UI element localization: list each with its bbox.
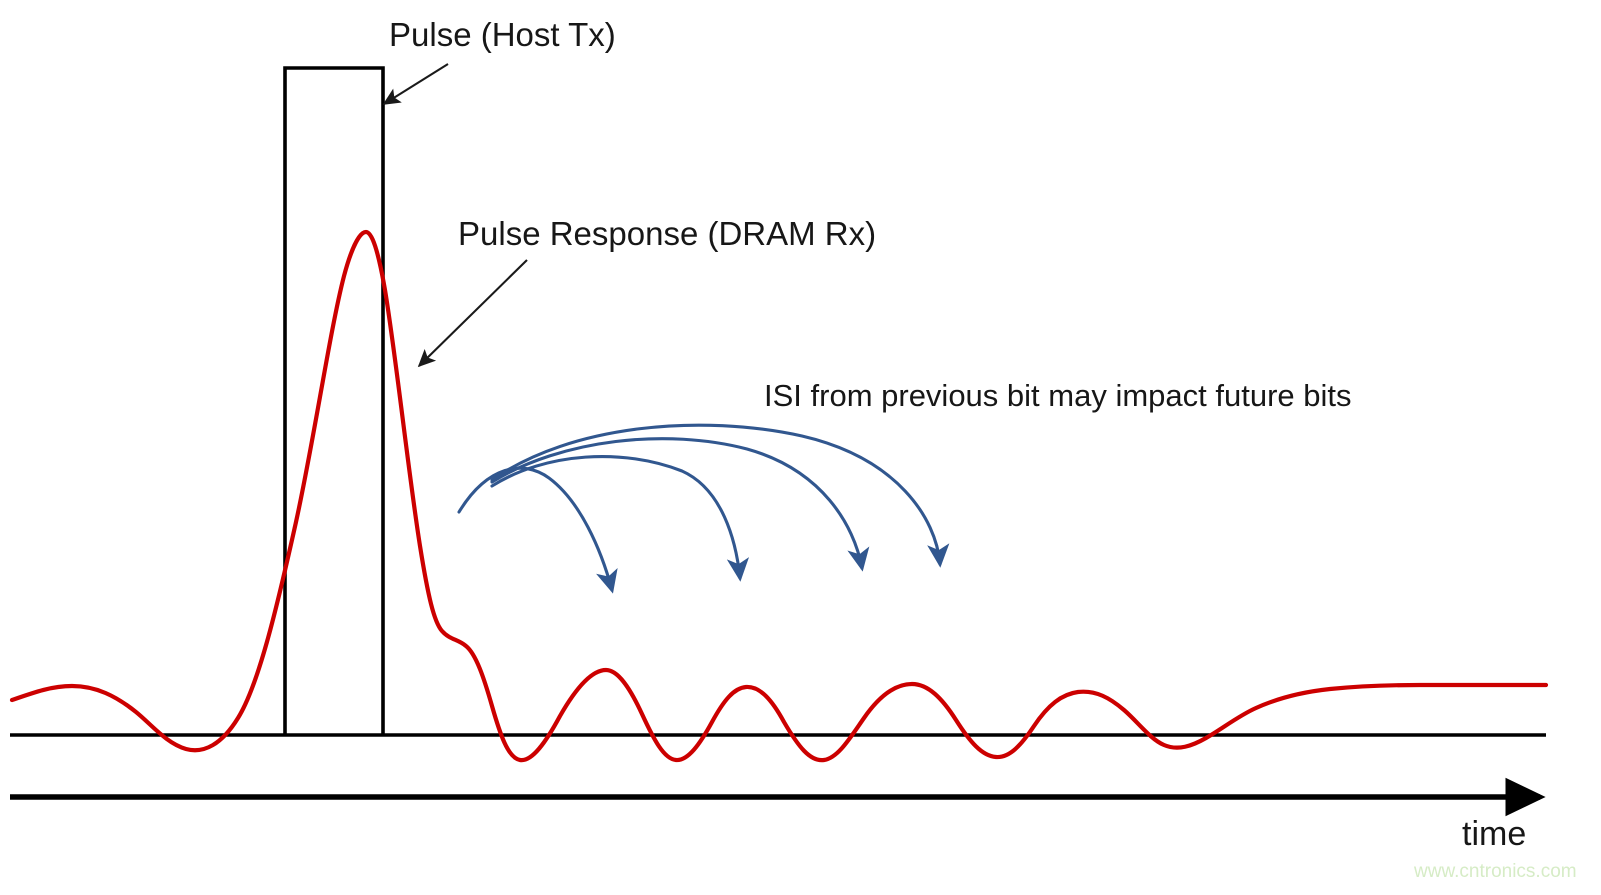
pulse-response-isi-diagram: Pulse (Host Tx) Pulse Response (DRAM Rx)… (0, 0, 1601, 895)
isi-arc-arrow-1 (459, 468, 612, 590)
watermark-label: www.cntronics.com (1413, 861, 1577, 882)
pulse-host-tx-leader-arrow (384, 64, 448, 104)
isi-note-label: ISI from previous bit may impact future … (764, 378, 1352, 413)
pulse-host-tx-label: Pulse (Host Tx) (389, 16, 616, 53)
diagram-canvas: Pulse (Host Tx) Pulse Response (DRAM Rx)… (0, 0, 1601, 895)
isi-arc-arrow-2 (492, 457, 740, 578)
pulse-response-leader-arrow (419, 260, 527, 366)
isi-arc-arrow-4 (492, 425, 940, 564)
pulse-response-label: Pulse Response (DRAM Rx) (458, 215, 876, 252)
pulse-response-dram-rx-waveform (12, 232, 1546, 760)
pulse-host-tx-waveform (285, 68, 383, 735)
time-axis-label: time (1462, 815, 1526, 853)
isi-arc-arrow-group (459, 425, 940, 590)
isi-arc-arrow-3 (492, 439, 862, 568)
